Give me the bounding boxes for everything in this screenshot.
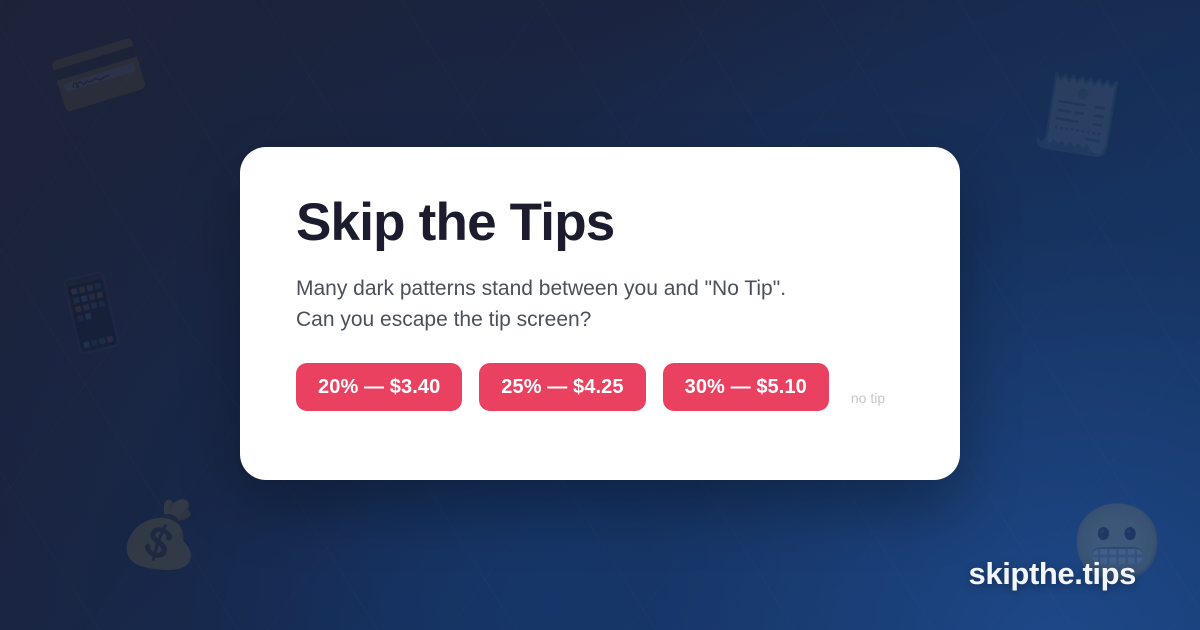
tip-button-25[interactable]: 25% — $4.25 <box>479 363 645 411</box>
og-image-canvas: 💳 🧾 📱 💰 😬 Skip the Tips Many dark patter… <box>0 0 1200 630</box>
money-bag-icon: 💰 <box>117 496 206 570</box>
page-title: Skip the Tips <box>296 195 904 251</box>
credit-card-icon: 💳 <box>43 26 156 126</box>
subtitle-line-1: Many dark patterns stand between you and… <box>296 274 904 305</box>
no-tip-link[interactable]: no tip <box>851 390 885 411</box>
mobile-phone-icon: 📱 <box>41 269 142 357</box>
receipt-icon: 🧾 <box>1029 73 1129 158</box>
site-wordmark: skipthe.tips <box>969 556 1136 592</box>
tip-button-20[interactable]: 20% — $3.40 <box>296 363 462 411</box>
subtitle-line-2: Can you escape the tip screen? <box>296 305 904 336</box>
tip-card: Skip the Tips Many dark patterns stand b… <box>240 147 960 480</box>
tip-button-30[interactable]: 30% — $5.10 <box>663 363 829 411</box>
page-subtitle: Many dark patterns stand between you and… <box>296 274 904 336</box>
tip-options-row: 20% — $3.40 25% — $4.25 30% — $5.10 no t… <box>296 363 904 411</box>
